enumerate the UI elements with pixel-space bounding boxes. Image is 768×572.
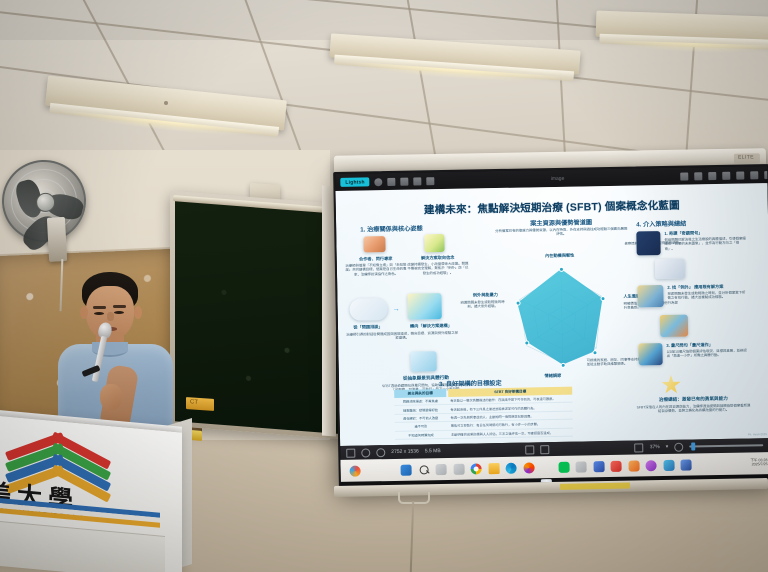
media-icon[interactable] [628,460,639,471]
maximize-icon[interactable] [750,171,758,179]
radar-chart [507,264,617,370]
presenter-hand [100,384,122,410]
search-icon[interactable] [418,464,429,475]
taskbar-items [369,458,724,476]
chrome-icon[interactable] [470,463,481,474]
s4-summary-body: SFBT深信在人的內在與資源與能力，治療師透過提問與回饋協助個案重新連結自身優勢… [635,403,751,414]
rotate-right-icon[interactable] [401,177,409,185]
close-icon[interactable] [764,170,768,178]
cloud-icon [349,298,387,321]
info-icon[interactable] [376,448,385,457]
classroom-photo: CT ELITE Lightsh image [0,0,768,572]
road-icon [637,285,663,307]
section-1-heading: 1. 治療關係與核心姿態 [360,223,423,233]
projector-screen-handle[interactable] [398,492,430,504]
goal-table: 美主與失的目標 SFBT 良好架構目標 問題消除描述：不再焦慮 每天能以一整次具… [394,387,573,440]
section-2-lead: 分析個案已有的復原力與優勢資源，以內在特質、外在支持與過往成功經驗三個面向展開評… [494,227,628,238]
goal-cell-0-0: 問題消除描述：不再焦慮 [394,397,446,405]
sunrise-icon [407,293,441,320]
transition-to-label: 轉向「解決方案建構」 [400,323,462,330]
s4-item-2-body: 以0至10量尺協助個案評估現況、目標與進展，並辨認出「再進一小步」所需之具體行動… [666,348,748,358]
slide-credit: Ph. Hsieh/2025 [748,432,767,436]
handover-icon [655,259,685,280]
puzzle-icon [660,315,688,338]
widgets-icon[interactable] [401,464,412,475]
start-icon[interactable] [349,465,360,476]
line-icon[interactable] [558,461,569,472]
goal-cell-1-0: 抽象籠統：狀態變得好些 [394,405,446,413]
actual-size-icon[interactable] [541,445,550,454]
store-icon[interactable] [593,461,604,472]
contacts-icon[interactable] [575,461,586,472]
section-4-heading: 4. 介入策略與總結 [636,219,686,229]
photos-icon[interactable] [645,460,656,471]
transition-arrow: → [393,306,400,313]
chalk-tray-item: CT [186,397,214,411]
s4-item-1-body: 探索問題未發生或較輕微之時刻，並分析個案當下所做之有效行動，擴大並複製成功經驗。 [667,290,747,300]
goal-cell-2-0: 責任歸於：不可他人改變 [395,414,447,422]
telescope-night-icon [636,231,660,255]
s4-item-0-body: 假設問題已解決後之生活樣貌的具體描述，引導個案細緻化「想要的未來圖像」，並作為行… [664,236,746,251]
zoom-slider[interactable] [689,444,763,447]
favorite-icon[interactable] [361,448,370,457]
fit-to-window-icon[interactable] [526,445,535,454]
projector-screen: Lightsh image 建構未來：焦點解 [333,164,768,488]
minimize-icon[interactable] [736,171,744,179]
ceiling-light-fixture-right [596,11,768,44]
settings-icon[interactable] [680,172,688,180]
image-icon[interactable] [346,448,355,457]
slide-image: 建構未來：焦點解決短期治療 (SFBT) 個案概念化藍圖 1. 治療關係與核心姿… [335,183,768,446]
wall-fan [0,158,88,244]
app-brand-chip[interactable]: Lightsh [340,177,370,187]
space-icon [638,343,662,365]
presenter-nose [107,312,114,321]
slide-title: 建構未來：焦點解決短期治療 (SFBT) 個案概念化藍圖 [336,196,768,219]
s1-item-0-body: 治療師與個案「不知情立場」與「未知態度」共同建構目標，個案是自己生命的專家，治療… [343,263,409,278]
transition-body: 治療師引導的對話從問題成因與困境描述，轉向目標、資源與例外經驗之探索建構。 [346,331,458,342]
taskbar-clock[interactable]: 下午 03:28 2025/7/25 [723,459,768,467]
onedrive-icon[interactable] [680,459,691,470]
fan-mount [47,217,67,262]
radar-note-left: 辨識問題未發生或較輕微的時刻，擴大例外經驗。 [458,300,508,310]
radar-axis-left-label: 例外與能量力 [461,292,509,299]
goal-cell-4-1: 主動明確的成果指標與人人評估，三次之後評估一次，可確認是否達成。 [449,428,573,438]
s1-item-1-body: 改變持續發生，小改變帶來大改變。問題不需被完全理解，聚焦於「例外」與「已發生的成… [407,262,469,277]
zoom-reset-icon[interactable] [635,443,644,452]
image-dimensions-label: 2752 x 1536 [391,448,419,455]
copilot-icon[interactable] [453,463,464,474]
s1-item-0-caption: 合作者、同行專家 [347,256,405,263]
goal-cell-4-0: 不知道何時算完成 [395,430,447,438]
goal-cell-3-0: 遙不可及 [395,422,447,430]
crop-icon[interactable] [414,177,422,185]
task-view-icon[interactable] [436,463,447,474]
transition-from-label: 從「問題排談」 [340,324,396,331]
undo-icon[interactable] [375,178,383,186]
image-filesize-label: 5.5 MB [425,448,441,454]
teams-icon[interactable] [663,459,674,470]
share-icon[interactable] [708,172,716,180]
cat-app-icon[interactable] [610,460,621,471]
print-icon[interactable] [722,171,730,179]
star-icon [661,375,681,395]
app-title-label: image [551,175,565,181]
file-explorer-icon[interactable] [488,463,499,474]
firefox-icon[interactable] [523,462,534,473]
s1-item-1-caption: 解決方案取向信念 [409,255,467,262]
radar-axis-bottom-label: 情緒調節 [525,373,581,380]
info-icon[interactable] [694,172,702,180]
s4-summary-caption: 治療總結：激發已有的勇氣與能力 [635,395,751,403]
handshake-icon [363,236,385,252]
clock-date: 2025/7/25 [724,463,768,468]
rotate-left-icon[interactable] [388,177,396,185]
zoom-out-icon[interactable] [674,442,683,451]
zoom-slider-knob[interactable] [691,443,695,451]
adjust-icon[interactable] [427,177,435,185]
sprout-icon [424,234,444,252]
zoom-level-label: 37% [650,444,660,450]
stairs-icon [410,351,436,371]
radar-axis-top-label: 內在動機與韌性 [525,252,595,259]
chevron-down-icon[interactable]: ▾ [666,444,669,450]
section-3-heading: 3. 良好架構的目標設定 [439,378,502,388]
edge-icon[interactable] [505,462,516,473]
image-viewer-app: Lightsh image 建構未來：焦點解 [335,166,768,486]
